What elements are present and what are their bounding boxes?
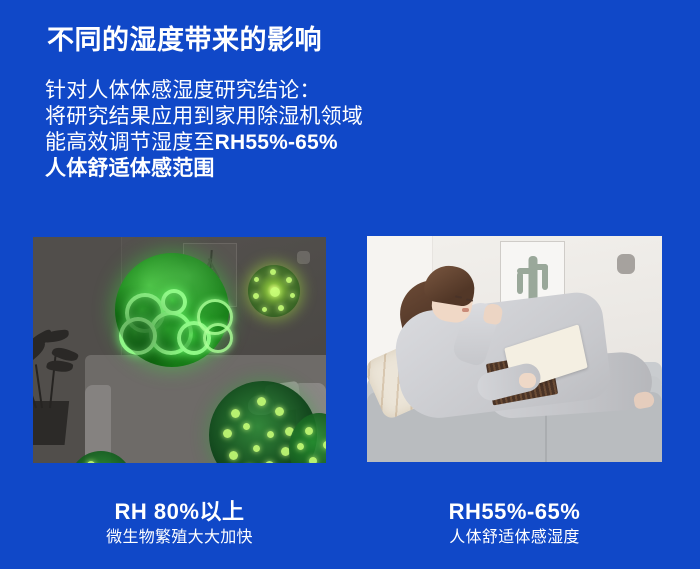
caption-comfort-humidity: RH55%-65% 人体舒适体感湿度 [367, 498, 662, 550]
caption-sub-comfort: 人体舒适体感湿度 [367, 526, 662, 550]
caption-sub-high: 微生物繁殖大大加快 [33, 526, 326, 550]
cactus-arm [517, 272, 523, 294]
house-plant [33, 328, 93, 408]
cactus-arm [517, 268, 533, 274]
microbe-cluster-large [115, 253, 229, 367]
virus-spike [305, 427, 313, 435]
caption-title-high: RH 80%以上 [33, 498, 326, 526]
caption-title-comfort: RH55%-65% [367, 498, 662, 526]
virus-spike [286, 277, 292, 283]
intro-line-2: 将研究结果应用到家用除湿机领域 [45, 104, 465, 130]
virus-spike [231, 409, 240, 418]
virus-spike [229, 451, 238, 460]
cactus-arm [532, 264, 548, 270]
photo-high-humidity [33, 237, 326, 463]
virus-spike [265, 461, 274, 463]
page-title: 不同的湿度带来的影响 [47, 18, 322, 57]
intro-line-4: 人体舒适体感范围 [45, 156, 465, 182]
virus-spike [309, 457, 317, 463]
plant-stalk [35, 364, 43, 408]
virus-spike [87, 461, 95, 463]
intro-paragraph: 针对人体体感湿度研究结论： 将研究结果应用到家用除湿机领域 能高效调节湿度至RH… [45, 78, 465, 182]
wall-speaker-icon [617, 254, 635, 274]
virus-spike [223, 429, 232, 438]
virus-spike [323, 441, 326, 449]
virus-spike [278, 305, 284, 311]
microbe-cell [149, 311, 193, 355]
virus-spike [253, 293, 259, 299]
virus-spike [297, 443, 304, 450]
virus-core [270, 287, 280, 297]
virus-spike [290, 293, 295, 298]
photo-comfort-humidity [367, 236, 662, 462]
virus-spike [257, 397, 266, 406]
virus-spike [253, 445, 260, 452]
microbe-cell [161, 289, 187, 315]
humidity-range-value: RH55%-65% [215, 131, 338, 154]
caption-high-humidity: RH 80%以上 微生物繁殖大大加快 [33, 498, 326, 550]
microbe-cell [177, 321, 211, 355]
virus-spike [243, 423, 250, 430]
intro-line-1: 针对人体体感湿度研究结论： [45, 78, 465, 104]
virus-spike [254, 277, 259, 282]
poster-root: 不同的湿度带来的影响 针对人体体感湿度研究结论： 将研究结果应用到家用除湿机领域… [0, 0, 700, 569]
microbe-sphere-virus [248, 265, 300, 317]
virus-spike [267, 431, 274, 438]
virus-spike [275, 407, 284, 416]
intro-line-3: 能高效调节湿度至RH55%-65% [45, 130, 465, 156]
woman-mouth [462, 308, 469, 312]
virus-spike [270, 269, 276, 275]
intro-line-3-text: 能高效调节湿度至 [45, 131, 215, 154]
virus-spike [262, 307, 267, 312]
microbe-cell [119, 317, 157, 355]
woman-hand-on-book [519, 373, 536, 388]
microbe-ring [203, 323, 233, 353]
wall-speaker-icon [297, 251, 310, 264]
microbe-cell [125, 293, 165, 333]
